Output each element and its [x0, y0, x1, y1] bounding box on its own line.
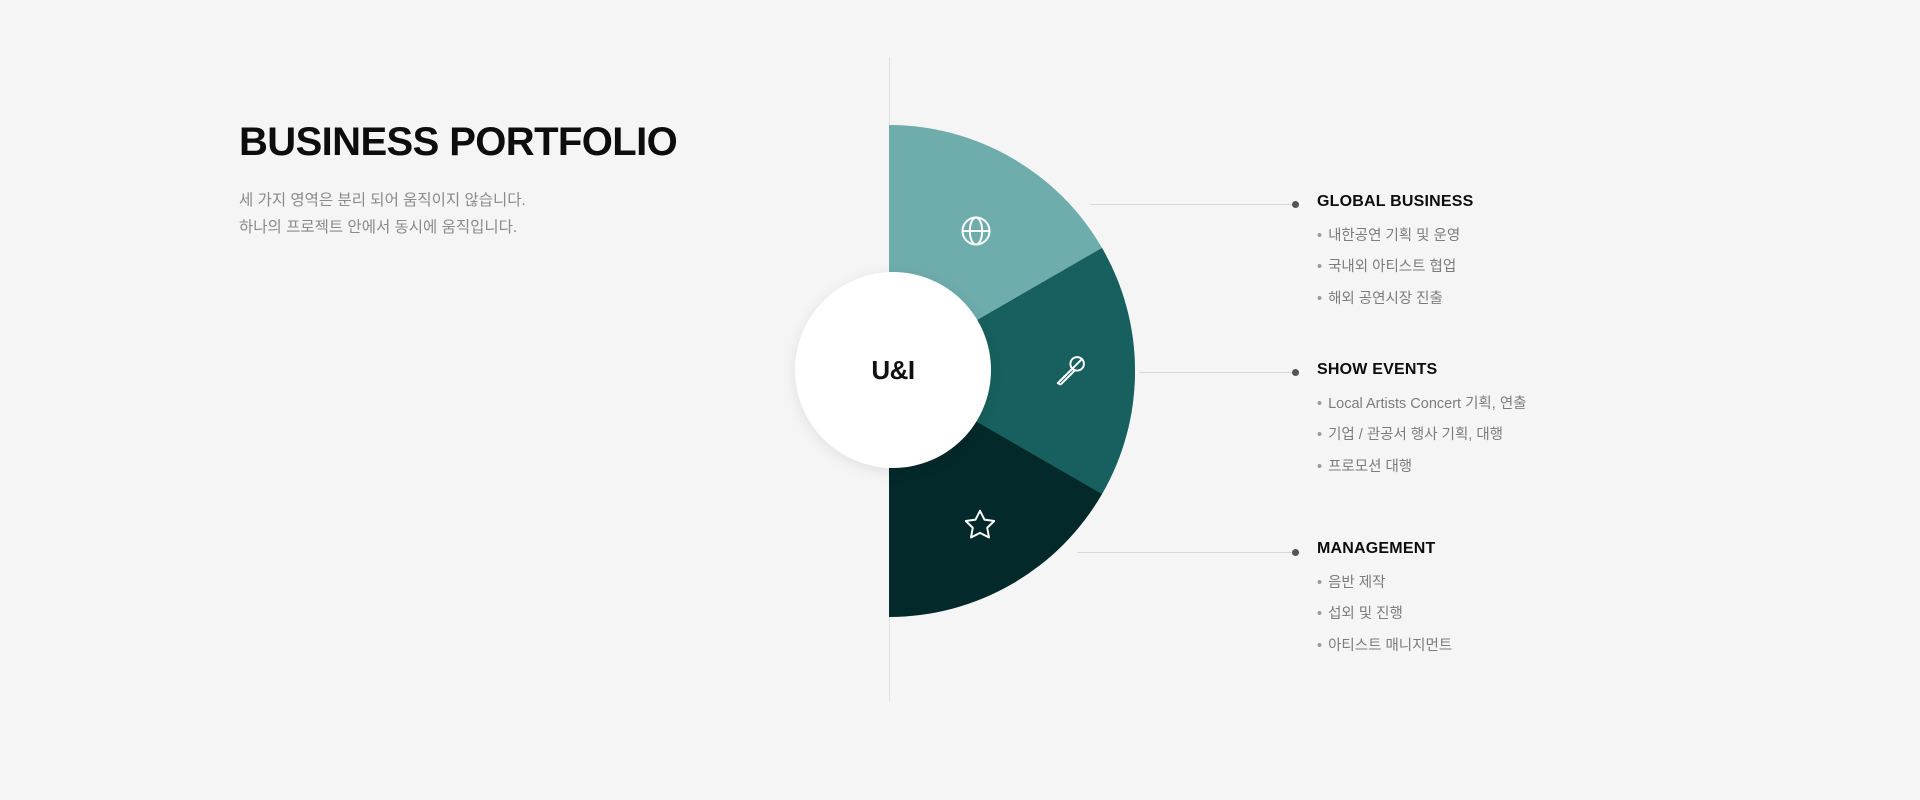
bullet-glyph: • [1317, 606, 1328, 622]
connector-dot-global-business [1292, 201, 1299, 208]
list-item-label: 음반 제작 [1328, 575, 1385, 591]
star-icon [962, 506, 998, 542]
globe-icon [958, 213, 994, 249]
group-title: GLOBAL BUSINESS [1317, 193, 1737, 211]
list-item-label: Local Artists Concert 기획, 연출 [1328, 396, 1526, 412]
list-item: •아티스트 매니지먼트 [1317, 635, 1737, 666]
group-item-list: •Local Artists Concert 기획, 연출 •기업 / 관공서 … [1317, 379, 1737, 487]
connector-line-show-events [1139, 372, 1298, 373]
connector-dot-management [1292, 549, 1299, 556]
portfolio-group-management: MANAGEMENT •음반 제작 •섭외 및 진행 •아티스트 매니지먼트 [1317, 540, 1737, 666]
slide-canvas: BUSINESS PORTFOLIO 세 가지 영역은 분리 되어 움직이지 않… [0, 0, 1920, 800]
bullet-glyph: • [1317, 427, 1328, 443]
group-item-list: •음반 제작 •섭외 및 진행 •아티스트 매니지먼트 [1317, 558, 1737, 666]
group-title: MANAGEMENT [1317, 540, 1737, 558]
group-item-list: •내한공연 기획 및 운영 •국내외 아티스트 협업 •해외 공연시장 진출 [1317, 211, 1737, 319]
list-item-label: 기업 / 관공서 행사 기획, 대행 [1328, 427, 1503, 443]
microphone-icon [1053, 352, 1089, 388]
list-item-label: 섭외 및 진행 [1328, 606, 1403, 622]
center-brand-badge[interactable]: U&I [795, 272, 991, 468]
list-item: •프로모션 대행 [1317, 456, 1737, 487]
bullet-glyph: • [1317, 396, 1328, 412]
connector-line-management [1077, 552, 1298, 553]
list-item: •내한공연 기획 및 운영 [1317, 225, 1737, 256]
connector-line-global-business [1090, 204, 1298, 205]
list-item: •기업 / 관공서 행사 기획, 대행 [1317, 424, 1737, 455]
bullet-glyph: • [1317, 459, 1328, 475]
bullet-glyph: • [1317, 259, 1328, 275]
connector-dot-show-events [1292, 369, 1299, 376]
bullet-glyph: • [1317, 638, 1328, 654]
list-item: •Local Artists Concert 기획, 연출 [1317, 393, 1737, 424]
bullet-glyph: • [1317, 291, 1328, 307]
bullet-glyph: • [1317, 228, 1328, 244]
list-item: •해외 공연시장 진출 [1317, 288, 1737, 319]
list-item: •섭외 및 진행 [1317, 603, 1737, 634]
list-item: •음반 제작 [1317, 572, 1737, 603]
list-item-label: 아티스트 매니지먼트 [1328, 638, 1452, 654]
list-item-label: 국내외 아티스트 협업 [1328, 259, 1456, 275]
list-item-label: 내한공연 기획 및 운영 [1328, 228, 1460, 244]
list-item: •국내외 아티스트 협업 [1317, 256, 1737, 287]
list-item-label: 해외 공연시장 진출 [1328, 291, 1443, 307]
bullet-glyph: • [1317, 575, 1328, 591]
brand-label: U&I [871, 355, 914, 386]
list-item-label: 프로모션 대행 [1328, 459, 1412, 475]
group-title: SHOW EVENTS [1317, 361, 1737, 379]
portfolio-group-show-events: SHOW EVENTS •Local Artists Concert 기획, 연… [1317, 361, 1737, 487]
portfolio-group-global-business: GLOBAL BUSINESS •내한공연 기획 및 운영 •국내외 아티스트 … [1317, 193, 1737, 319]
